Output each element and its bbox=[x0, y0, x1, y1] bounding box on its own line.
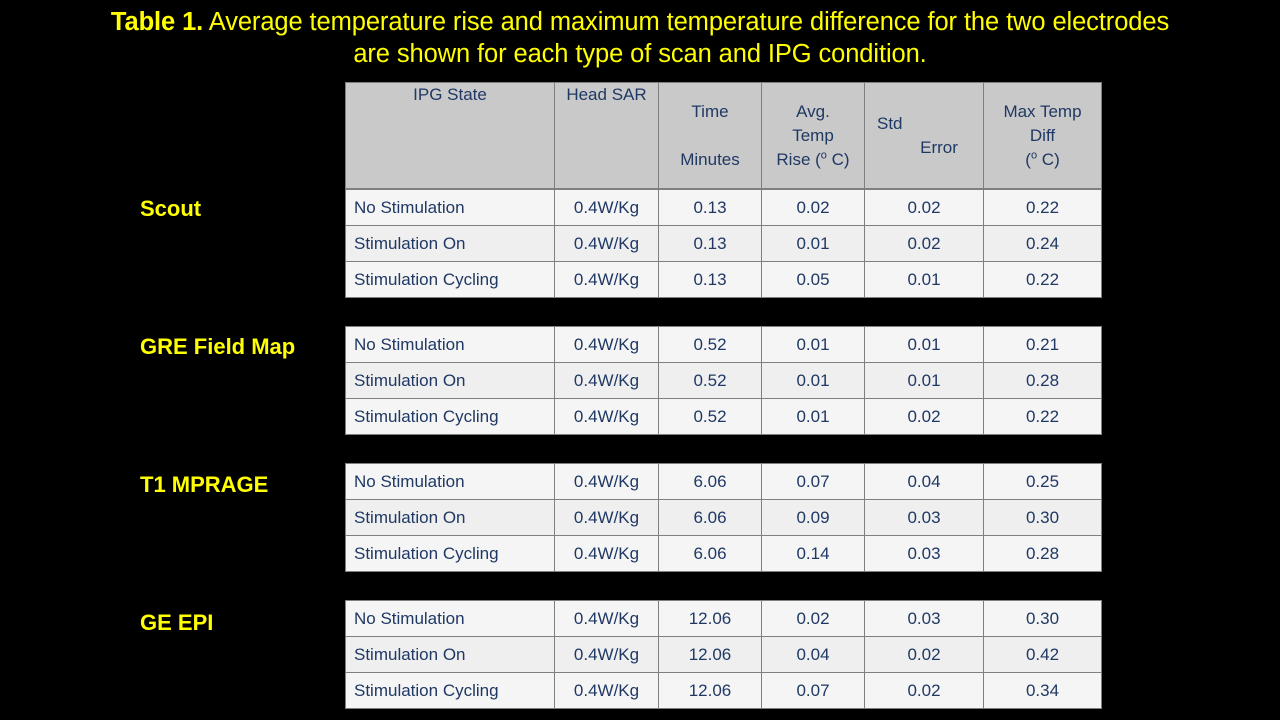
table-row[interactable]: Stimulation Cycling 0.4W/Kg 6.06 0.14 0.… bbox=[346, 536, 1102, 572]
table-row[interactable]: No Stimulation 0.4W/Kg 12.06 0.02 0.03 0… bbox=[346, 601, 1102, 637]
header-line-units: (o C) bbox=[984, 148, 1101, 172]
cell-max-temp-diff: 0.25 bbox=[984, 464, 1102, 500]
cell-ipg-state: Stimulation Cycling bbox=[346, 399, 555, 435]
cell-time-minutes: 12.06 bbox=[659, 601, 762, 637]
scan-group-label-gre-field-map: GRE Field Map bbox=[140, 334, 295, 360]
table-row[interactable]: Stimulation On 0.4W/Kg 0.52 0.01 0.01 0.… bbox=[346, 363, 1102, 399]
cell-head-sar: 0.4W/Kg bbox=[555, 327, 659, 363]
cell-head-sar: 0.4W/Kg bbox=[555, 601, 659, 637]
results-table: IPG State Head SAR Time Minutes Avg. Tem… bbox=[345, 82, 1101, 709]
scan-group-label-ge-epi: GE EPI bbox=[140, 610, 213, 636]
cell-avg-temp-rise: 0.01 bbox=[762, 226, 865, 262]
cell-max-temp-diff: 0.34 bbox=[984, 673, 1102, 709]
header-line: Std bbox=[865, 112, 983, 136]
page-title: Table 1. Average temperature rise and ma… bbox=[110, 6, 1170, 70]
cell-std-error: 0.02 bbox=[865, 190, 984, 226]
cell-ipg-state: Stimulation On bbox=[346, 226, 555, 262]
cell-max-temp-diff: 0.22 bbox=[984, 190, 1102, 226]
cell-avg-temp-rise: 0.07 bbox=[762, 673, 865, 709]
table-header: IPG State Head SAR Time Minutes Avg. Tem… bbox=[345, 82, 1102, 189]
header-line: Time bbox=[659, 100, 761, 124]
cell-head-sar: 0.4W/Kg bbox=[555, 637, 659, 673]
cell-std-error: 0.02 bbox=[865, 226, 984, 262]
table-row[interactable]: Stimulation On 0.4W/Kg 12.06 0.04 0.02 0… bbox=[346, 637, 1102, 673]
column-header-ipg-state: IPG State bbox=[346, 83, 555, 189]
header-line: Head SAR bbox=[555, 83, 658, 107]
cell-std-error: 0.01 bbox=[865, 363, 984, 399]
group-spacer bbox=[345, 435, 1101, 463]
table-group-gre-field-map: No Stimulation 0.4W/Kg 0.52 0.01 0.01 0.… bbox=[345, 326, 1102, 435]
table-group-t1-mprage: No Stimulation 0.4W/Kg 6.06 0.07 0.04 0.… bbox=[345, 463, 1102, 572]
cell-std-error: 0.01 bbox=[865, 262, 984, 298]
cell-head-sar: 0.4W/Kg bbox=[555, 464, 659, 500]
cell-head-sar: 0.4W/Kg bbox=[555, 262, 659, 298]
table-row[interactable]: No Stimulation 0.4W/Kg 0.52 0.01 0.01 0.… bbox=[346, 327, 1102, 363]
cell-ipg-state: Stimulation On bbox=[346, 363, 555, 399]
cell-std-error: 0.02 bbox=[865, 673, 984, 709]
header-line: Diff bbox=[984, 124, 1101, 148]
title-label: Table 1. bbox=[111, 8, 203, 36]
cell-avg-temp-rise: 0.07 bbox=[762, 464, 865, 500]
cell-max-temp-diff: 0.30 bbox=[984, 500, 1102, 536]
cell-avg-temp-rise: 0.01 bbox=[762, 399, 865, 435]
header-line: Minutes bbox=[659, 148, 761, 172]
column-header-avg-temp-rise: Avg. Temp Rise (o C) bbox=[762, 83, 865, 189]
cell-time-minutes: 0.52 bbox=[659, 363, 762, 399]
cell-head-sar: 0.4W/Kg bbox=[555, 226, 659, 262]
table-row[interactable]: Stimulation Cycling 0.4W/Kg 12.06 0.07 0… bbox=[346, 673, 1102, 709]
cell-head-sar: 0.4W/Kg bbox=[555, 399, 659, 435]
cell-time-minutes: 6.06 bbox=[659, 464, 762, 500]
cell-head-sar: 0.4W/Kg bbox=[555, 190, 659, 226]
cell-max-temp-diff: 0.30 bbox=[984, 601, 1102, 637]
cell-ipg-state: Stimulation Cycling bbox=[346, 673, 555, 709]
cell-std-error: 0.04 bbox=[865, 464, 984, 500]
header-line: Error bbox=[865, 136, 983, 160]
cell-time-minutes: 0.13 bbox=[659, 190, 762, 226]
table-row[interactable]: Stimulation On 0.4W/Kg 6.06 0.09 0.03 0.… bbox=[346, 500, 1102, 536]
degree-symbol-icon: o bbox=[1031, 149, 1037, 161]
cell-ipg-state: Stimulation Cycling bbox=[346, 536, 555, 572]
cell-ipg-state: No Stimulation bbox=[346, 464, 555, 500]
cell-max-temp-diff: 0.22 bbox=[984, 262, 1102, 298]
cell-time-minutes: 0.13 bbox=[659, 226, 762, 262]
column-header-time-minutes: Time Minutes bbox=[659, 83, 762, 189]
table-row[interactable]: No Stimulation 0.4W/Kg 6.06 0.07 0.04 0.… bbox=[346, 464, 1102, 500]
cell-time-minutes: 12.06 bbox=[659, 673, 762, 709]
cell-std-error: 0.03 bbox=[865, 536, 984, 572]
cell-std-error: 0.02 bbox=[865, 637, 984, 673]
cell-avg-temp-rise: 0.01 bbox=[762, 363, 865, 399]
title-text: Average temperature rise and maximum tem… bbox=[203, 8, 1169, 68]
cell-time-minutes: 6.06 bbox=[659, 500, 762, 536]
cell-avg-temp-rise: 0.05 bbox=[762, 262, 865, 298]
cell-head-sar: 0.4W/Kg bbox=[555, 363, 659, 399]
cell-head-sar: 0.4W/Kg bbox=[555, 536, 659, 572]
table-row[interactable]: Stimulation Cycling 0.4W/Kg 0.52 0.01 0.… bbox=[346, 399, 1102, 435]
cell-ipg-state: Stimulation On bbox=[346, 637, 555, 673]
cell-max-temp-diff: 0.24 bbox=[984, 226, 1102, 262]
cell-std-error: 0.03 bbox=[865, 601, 984, 637]
column-header-std-error: Std Error bbox=[865, 83, 984, 189]
cell-avg-temp-rise: 0.04 bbox=[762, 637, 865, 673]
cell-std-error: 0.02 bbox=[865, 399, 984, 435]
cell-std-error: 0.03 bbox=[865, 500, 984, 536]
header-line: Avg. bbox=[762, 100, 864, 124]
cell-time-minutes: 0.52 bbox=[659, 399, 762, 435]
cell-max-temp-diff: 0.22 bbox=[984, 399, 1102, 435]
cell-time-minutes: 0.52 bbox=[659, 327, 762, 363]
cell-avg-temp-rise: 0.14 bbox=[762, 536, 865, 572]
table-row[interactable]: No Stimulation 0.4W/Kg 0.13 0.02 0.02 0.… bbox=[346, 190, 1102, 226]
cell-ipg-state: Stimulation On bbox=[346, 500, 555, 536]
header-line-units: Rise (o C) bbox=[762, 148, 864, 172]
cell-avg-temp-rise: 0.02 bbox=[762, 601, 865, 637]
table-row[interactable]: Stimulation Cycling 0.4W/Kg 0.13 0.05 0.… bbox=[346, 262, 1102, 298]
cell-avg-temp-rise: 0.01 bbox=[762, 327, 865, 363]
cell-ipg-state: No Stimulation bbox=[346, 190, 555, 226]
column-header-head-sar: Head SAR bbox=[555, 83, 659, 189]
scan-group-label-t1-mprage: T1 MPRAGE bbox=[140, 472, 268, 498]
table-row[interactable]: Stimulation On 0.4W/Kg 0.13 0.01 0.02 0.… bbox=[346, 226, 1102, 262]
cell-max-temp-diff: 0.28 bbox=[984, 363, 1102, 399]
cell-time-minutes: 6.06 bbox=[659, 536, 762, 572]
cell-avg-temp-rise: 0.09 bbox=[762, 500, 865, 536]
header-line: Temp bbox=[762, 124, 864, 148]
table-header-row: IPG State Head SAR Time Minutes Avg. Tem… bbox=[346, 83, 1102, 189]
cell-ipg-state: Stimulation Cycling bbox=[346, 262, 555, 298]
header-line: IPG State bbox=[346, 83, 554, 107]
scan-group-label-scout: Scout bbox=[140, 196, 201, 222]
cell-avg-temp-rise: 0.02 bbox=[762, 190, 865, 226]
group-spacer bbox=[345, 572, 1101, 600]
cell-time-minutes: 12.06 bbox=[659, 637, 762, 673]
group-spacer bbox=[345, 298, 1101, 326]
cell-max-temp-diff: 0.42 bbox=[984, 637, 1102, 673]
cell-ipg-state: No Stimulation bbox=[346, 601, 555, 637]
cell-ipg-state: No Stimulation bbox=[346, 327, 555, 363]
column-header-max-temp-diff: Max Temp Diff (o C) bbox=[984, 83, 1102, 189]
cell-max-temp-diff: 0.28 bbox=[984, 536, 1102, 572]
cell-head-sar: 0.4W/Kg bbox=[555, 500, 659, 536]
cell-max-temp-diff: 0.21 bbox=[984, 327, 1102, 363]
table-group-scout: No Stimulation 0.4W/Kg 0.13 0.02 0.02 0.… bbox=[345, 189, 1102, 298]
cell-std-error: 0.01 bbox=[865, 327, 984, 363]
cell-head-sar: 0.4W/Kg bbox=[555, 673, 659, 709]
header-line: Max Temp bbox=[984, 100, 1101, 124]
table-group-ge-epi: No Stimulation 0.4W/Kg 12.06 0.02 0.03 0… bbox=[345, 600, 1102, 709]
degree-symbol-icon: o bbox=[821, 149, 827, 161]
cell-time-minutes: 0.13 bbox=[659, 262, 762, 298]
